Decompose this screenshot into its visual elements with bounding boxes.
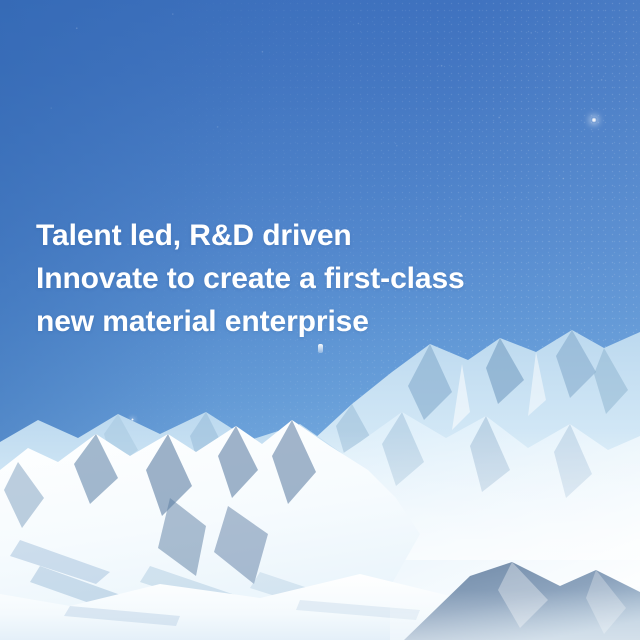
hero-headline: Talent led, R&D driven Innovate to creat… — [36, 214, 556, 343]
hero-banner: Talent led, R&D driven Innovate to creat… — [0, 0, 640, 640]
